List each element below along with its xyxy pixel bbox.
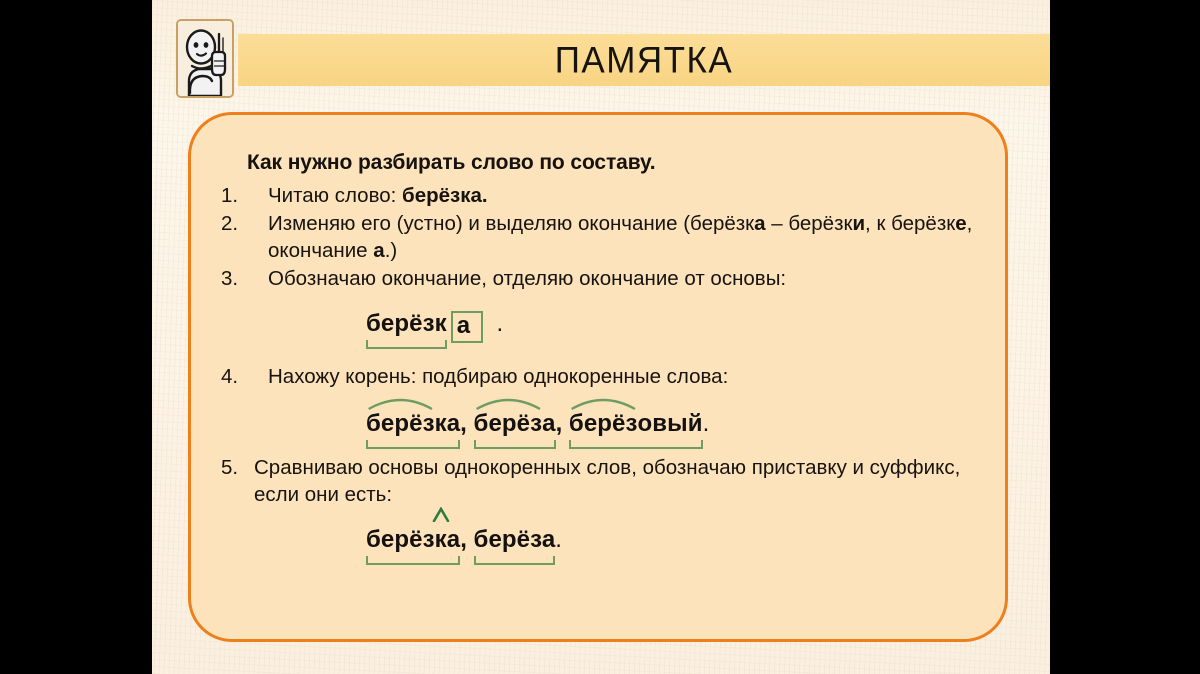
period-mark: . bbox=[555, 526, 562, 553]
step-text-part-bold: а bbox=[373, 239, 384, 262]
step-text-part-bold: а bbox=[754, 212, 765, 235]
steps-list: 1. Читаю слово: берёзка. 2. Изменяю его … bbox=[221, 182, 975, 554]
root-arc-group: берёз bbox=[569, 410, 638, 438]
list-item: 3. Обозначаю окончание, отделяю окончани… bbox=[221, 265, 975, 292]
ending-box: а bbox=[451, 311, 483, 343]
example-word: берёзовый bbox=[569, 410, 703, 438]
step-text: Сравниваю основы однокоренных слов, обоз… bbox=[254, 454, 975, 508]
list-item: 2. Изменяю его (устно) и выделяю окончан… bbox=[221, 210, 975, 264]
page-title: ПАМЯТКА bbox=[555, 41, 734, 78]
word-separator: , bbox=[556, 410, 569, 437]
pointing-finger-person-icon bbox=[176, 19, 234, 98]
step-text: Нахожу корень: подбираю однокоренные сло… bbox=[268, 363, 975, 390]
step-text-part: Читаю слово: bbox=[268, 184, 402, 207]
step-number: 3. bbox=[221, 265, 255, 292]
example-word: берёза bbox=[474, 410, 556, 438]
root-arc-icon bbox=[368, 395, 433, 410]
step-number: 1. bbox=[221, 182, 255, 209]
example-word: берёзка bbox=[366, 410, 460, 438]
stem-bracket: берёзка bbox=[366, 526, 460, 554]
period-mark: . bbox=[496, 310, 503, 337]
example-word: берёзк bbox=[366, 310, 447, 338]
ending-example: берёзка . bbox=[366, 310, 975, 343]
example-word: берёза bbox=[474, 526, 556, 554]
word-separator: , bbox=[460, 410, 473, 437]
letterbox-right bbox=[1050, 0, 1200, 674]
suffix-text: к bbox=[435, 526, 447, 553]
step-text-part-bold: берёзка. bbox=[402, 184, 488, 207]
root-text: берёз bbox=[366, 410, 435, 437]
root-arc-group: берёз bbox=[474, 410, 543, 438]
root-example: берёзка, берёза, берёзовый. bbox=[366, 410, 975, 438]
title-banner: ПАМЯТКА bbox=[238, 34, 1050, 86]
stem-bracket: берёза bbox=[474, 410, 556, 438]
root-arc-icon bbox=[476, 395, 541, 410]
step-text-part: .) bbox=[385, 239, 398, 262]
word-rest: а bbox=[447, 526, 460, 553]
suffix-example: берёзка, берёза. bbox=[366, 526, 975, 554]
word-rest: а bbox=[542, 410, 555, 437]
slide-root: ПАМЯТКА Как нужно разбирать слово по сос… bbox=[0, 0, 1200, 674]
step-number: 5. bbox=[221, 454, 255, 481]
step-text-part-bold: и bbox=[852, 212, 865, 235]
word-separator: , bbox=[460, 526, 473, 553]
period-mark: . bbox=[703, 410, 710, 437]
letterbox-left bbox=[0, 0, 152, 674]
panel-heading: Как нужно разбирать слово по составу. bbox=[247, 151, 975, 175]
memo-panel: Как нужно разбирать слово по составу. 1.… bbox=[188, 112, 1008, 642]
word-prefix: берёз bbox=[366, 526, 435, 553]
suffix-caret-icon bbox=[431, 507, 451, 522]
root-text: берёз bbox=[569, 410, 638, 437]
root-arc-icon bbox=[571, 395, 636, 410]
slide-header: ПАМЯТКА bbox=[152, 0, 1050, 110]
root-arc-group: берёз bbox=[366, 410, 435, 438]
stem-bracket: берёзка bbox=[366, 410, 460, 438]
step-text-part-bold: е bbox=[955, 212, 966, 235]
step-text-part: Изменяю его (устно) и выделяю окончание … bbox=[268, 212, 754, 235]
step-text: Изменяю его (устно) и выделяю окончание … bbox=[268, 210, 975, 264]
step-number: 2. bbox=[221, 210, 255, 237]
stem-bracket: берёза bbox=[474, 526, 556, 554]
example-word: берёзка bbox=[366, 526, 460, 554]
slide-stage: ПАМЯТКА Как нужно разбирать слово по сос… bbox=[152, 0, 1050, 674]
list-item: 5. Сравниваю основы однокоренных слов, о… bbox=[221, 454, 975, 508]
list-item: 4. Нахожу корень: подбираю однокоренные … bbox=[221, 363, 975, 390]
root-text: берёз bbox=[474, 410, 543, 437]
word-rest: овый bbox=[638, 410, 703, 437]
list-item: 1. Читаю слово: берёзка. bbox=[221, 182, 975, 209]
stem-bracket: берёзовый bbox=[569, 410, 703, 438]
step-text-part: , к берёзк bbox=[865, 212, 955, 235]
step-text-part: – берёзк bbox=[766, 212, 853, 235]
stem-bracket: берёзк bbox=[366, 310, 447, 338]
step-number: 4. bbox=[221, 363, 255, 390]
word-rest: ка bbox=[435, 410, 461, 437]
step-text: Читаю слово: берёзка. bbox=[268, 182, 975, 209]
example-period bbox=[483, 310, 496, 337]
suffix-group: к bbox=[435, 526, 447, 554]
step-text: Обозначаю окончание, отделяю окончание о… bbox=[268, 265, 975, 292]
